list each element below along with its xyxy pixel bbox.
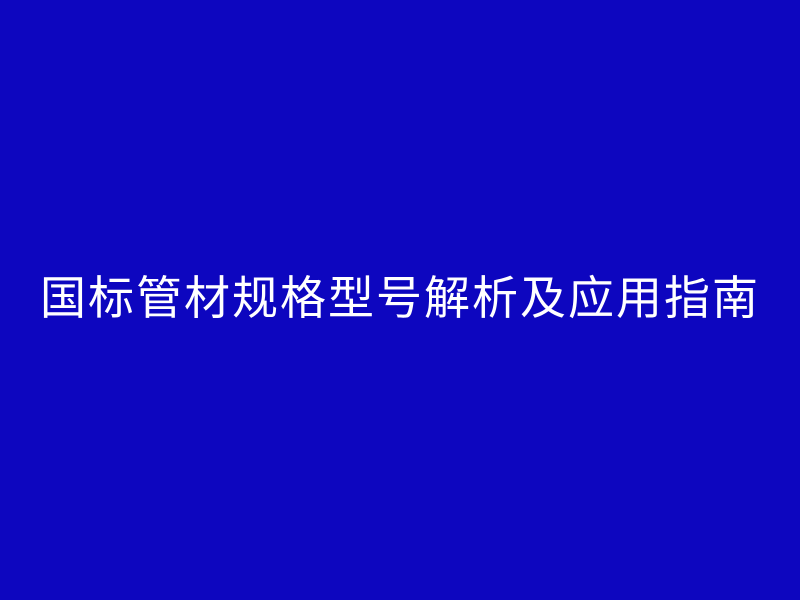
title-block: 国标管材规格型号解析及应用指南 <box>0 0 800 600</box>
title-slide: 国标管材规格型号解析及应用指南 <box>0 0 800 600</box>
page-title: 国标管材规格型号解析及应用指南 <box>0 275 800 321</box>
